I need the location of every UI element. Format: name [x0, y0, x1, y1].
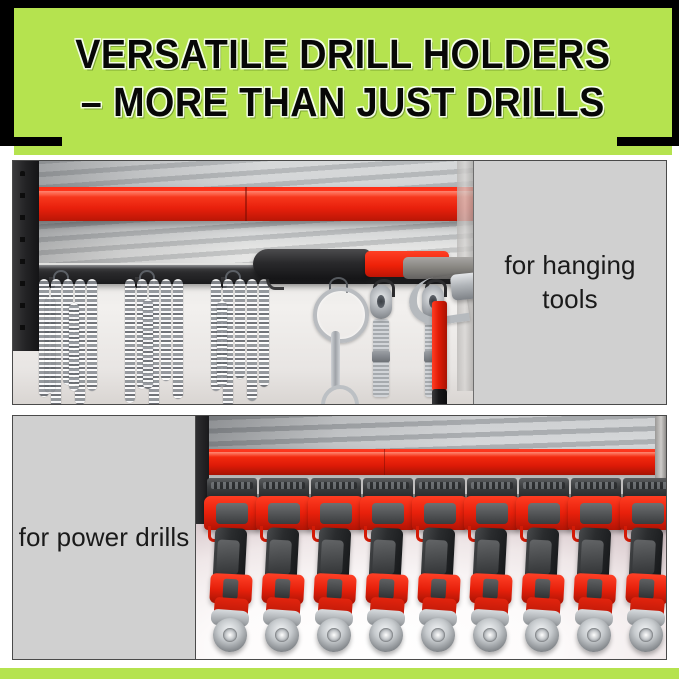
drill-holder-bracket	[464, 496, 520, 530]
title-line-1: VERSATILE DRILL HOLDERS	[75, 34, 610, 75]
header-banner: VERSATILE DRILL HOLDERS – MORE THAN JUST…	[0, 0, 679, 158]
red-rail-highlight	[196, 452, 666, 457]
power-drill	[464, 478, 520, 659]
caption-text: for hanging tools	[474, 249, 666, 317]
photo-power-drills	[196, 416, 666, 659]
power-drill	[620, 478, 666, 659]
drill-holder-bracket	[308, 496, 364, 530]
red-rail-highlight	[13, 191, 473, 197]
drill-holder-bracket	[620, 496, 666, 530]
drill-body-panel	[580, 539, 604, 574]
title-line-2: – MORE THAN JUST DRILLS	[81, 82, 605, 123]
strap-wrench	[370, 285, 392, 397]
rotary-tool-body	[253, 249, 371, 279]
power-drill	[568, 478, 624, 659]
power-drill	[256, 478, 312, 659]
hammer-grip	[432, 389, 447, 404]
drill-body-panel	[476, 539, 500, 574]
chain-strand	[45, 297, 55, 393]
ring-strap	[331, 331, 340, 389]
red-rail-seam	[384, 449, 385, 475]
chain-strand	[217, 301, 227, 387]
photo-hanging-tools	[13, 161, 474, 404]
rail-post-left	[13, 161, 39, 351]
caption-box-hanging-tools: for hanging tools	[474, 161, 666, 404]
drill-body-panel	[320, 539, 344, 574]
caption-text: for power drills	[19, 521, 190, 555]
chain-strand	[259, 279, 269, 387]
product-infographic: VERSATILE DRILL HOLDERS – MORE THAN JUST…	[0, 0, 679, 679]
chain-strand	[125, 279, 135, 403]
power-drill	[412, 478, 468, 659]
panel-hanging-tools: for hanging tools	[12, 160, 667, 405]
chain-strand	[235, 279, 245, 379]
drill-holder-bracket	[568, 496, 624, 530]
carabiner-ring	[313, 287, 369, 343]
drill-holder-bracket	[360, 496, 416, 530]
drill-body-panel	[528, 539, 552, 574]
caption-box-power-drills: for power drills	[13, 416, 196, 659]
bottom-green-strip	[0, 668, 679, 679]
drill-holder-bracket	[256, 496, 312, 530]
drill-holder-bracket	[516, 496, 572, 530]
drill-body-panel	[372, 539, 396, 574]
drill-body-panel	[268, 539, 292, 574]
hammer-handle	[432, 301, 447, 391]
panel-power-drills: for power drills	[12, 415, 667, 660]
power-drill	[308, 478, 364, 659]
drill-body-panel	[632, 539, 656, 574]
chain-strand	[87, 279, 97, 391]
wrench-clip	[372, 351, 390, 362]
drill-holder-bracket	[412, 496, 468, 530]
chain-strand	[247, 279, 257, 401]
chain-strand	[143, 299, 153, 389]
chain-strand	[69, 303, 79, 391]
chain-strand	[173, 279, 183, 399]
power-drill	[204, 478, 260, 659]
red-rail-seam	[245, 187, 246, 221]
wrench-head	[370, 285, 392, 319]
page-title: VERSATILE DRILL HOLDERS – MORE THAN JUST…	[14, 8, 672, 148]
power-drill	[360, 478, 416, 659]
drill-body-panel	[424, 539, 448, 574]
drill-body-panel	[216, 539, 240, 574]
drill-holder-bracket	[204, 496, 260, 530]
power-drill	[516, 478, 572, 659]
chain-strand	[161, 279, 171, 381]
hammer-head	[450, 271, 474, 301]
